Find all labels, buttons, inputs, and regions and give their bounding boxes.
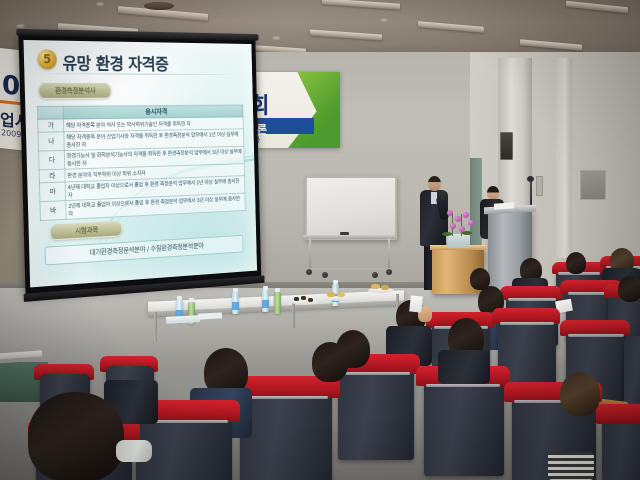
- projection-screen: 5 유망 환경 자격증 환경측정분석사 응시자격 가해당 자격종목 분야 석사 …: [18, 34, 261, 296]
- seat-trim: [426, 384, 500, 387]
- structural-column: [556, 58, 572, 258]
- snack-item: [327, 292, 335, 297]
- snack-item: [381, 285, 389, 290]
- bottle-label: [262, 300, 269, 308]
- audience-body: [438, 350, 490, 384]
- speaker-head: [428, 176, 441, 191]
- bottle-cap: [189, 298, 194, 302]
- seat-back: [602, 418, 640, 480]
- slide-title-rule: [34, 73, 244, 75]
- audience-striped-shirt: [548, 452, 594, 480]
- slide-section-button-top: 환경측정분석사: [38, 83, 111, 99]
- ceiling-fixture: [272, 36, 281, 40]
- seat-trim: [500, 322, 554, 325]
- slide-title: 유망 환경 자격증: [62, 50, 169, 75]
- moderator-head: [487, 186, 499, 200]
- snack-item: [308, 298, 313, 302]
- audience-head: [312, 342, 348, 382]
- slide-section-button-bottom-label: 시험과목: [51, 222, 122, 239]
- handout-paper: [409, 295, 423, 312]
- orchid-stem: [461, 214, 462, 236]
- bottle-cap: [333, 280, 338, 284]
- table-row-label: 다: [39, 150, 65, 169]
- slide-number-badge: 5: [37, 49, 57, 69]
- orchid-bloom: [468, 220, 474, 226]
- bottle-cap: [275, 288, 280, 292]
- ceiling-fixture: [16, 24, 25, 28]
- presentation-slide: 5 유망 환경 자격증 환경측정분석사 응시자격 가해당 자격종목 분야 석사 …: [23, 40, 257, 287]
- slide-section-button-top-label: 환경측정분석사: [39, 84, 110, 98]
- whiteboard-crossbar: [306, 268, 390, 270]
- snack-item: [294, 297, 299, 301]
- slide-number-badge-label: 5: [37, 49, 57, 69]
- table-row-label: 가: [38, 119, 64, 132]
- seat-back: [338, 368, 414, 460]
- table-header-blank: [37, 106, 63, 119]
- bottle-cap: [177, 296, 182, 300]
- whiteboard-leg: [388, 238, 390, 270]
- wall-plate: [536, 176, 543, 196]
- head-table-leg: [154, 312, 157, 342]
- whiteboard-marker: [340, 232, 349, 235]
- audience-head: [618, 276, 640, 302]
- table-row-label: 라: [39, 169, 65, 183]
- audience-head: [566, 252, 586, 274]
- orchid-bloom: [459, 226, 465, 232]
- whiteboard: [305, 176, 397, 240]
- bottle-cap: [233, 288, 238, 292]
- wall-panel: [580, 170, 606, 200]
- audience-head: [560, 372, 600, 416]
- orchid-bloom: [463, 212, 469, 218]
- microphone-icon: [527, 176, 534, 182]
- seat-trim: [508, 298, 556, 301]
- banner-green-swoosh-icon: [288, 72, 340, 148]
- slide-eligibility-table: 응시자격 가해당 자격종목 분야 석사 또는 박사학위기술인 자격을 취득한 자…: [37, 104, 246, 221]
- whiteboard-caster: [322, 272, 328, 278]
- orchid-leaf: [442, 232, 452, 236]
- orchid-bloom: [447, 210, 453, 216]
- green-bottle: [274, 292, 281, 314]
- table-row-label: 바: [40, 201, 66, 221]
- wall-speaker-icon: [500, 132, 513, 160]
- table-row-label: 나: [38, 132, 64, 151]
- snack-item: [371, 284, 380, 289]
- table-row-label: 마: [39, 182, 65, 202]
- orchid-bloom: [450, 223, 456, 229]
- seat-back: [424, 380, 504, 476]
- whiteboard-tray: [303, 235, 395, 239]
- whiteboard-caster: [306, 269, 312, 275]
- ceiling-speaker: [144, 2, 174, 10]
- whiteboard-leg: [309, 238, 311, 270]
- audience-bag: [116, 440, 152, 462]
- seat-back: [624, 336, 640, 412]
- seat-trim: [244, 396, 328, 399]
- ceiling-fixture: [380, 18, 388, 22]
- head-table-leg: [292, 302, 295, 328]
- seat-headrest: [596, 404, 640, 424]
- bottle-label: [232, 302, 239, 310]
- handheld-microphone-icon: [441, 191, 445, 200]
- orchid-vase: [446, 234, 470, 248]
- table-document: [198, 312, 222, 319]
- ceiling-fixture: [96, 2, 104, 6]
- bottle-cap: [263, 286, 268, 290]
- snack-item: [301, 296, 306, 300]
- seat-back: [240, 392, 332, 480]
- snack-item: [337, 292, 345, 297]
- whiteboard-caster: [372, 272, 378, 278]
- orchid-bloom: [455, 216, 461, 222]
- audience-head: [28, 392, 124, 480]
- whiteboard-caster: [386, 269, 392, 275]
- lecture-hall-photo: 09 업시 2009. 11. 수회 전략토론 환경정책과 5 유망 환경 자격…: [0, 0, 640, 480]
- seat-trim: [568, 334, 624, 337]
- seat-trim: [340, 372, 410, 375]
